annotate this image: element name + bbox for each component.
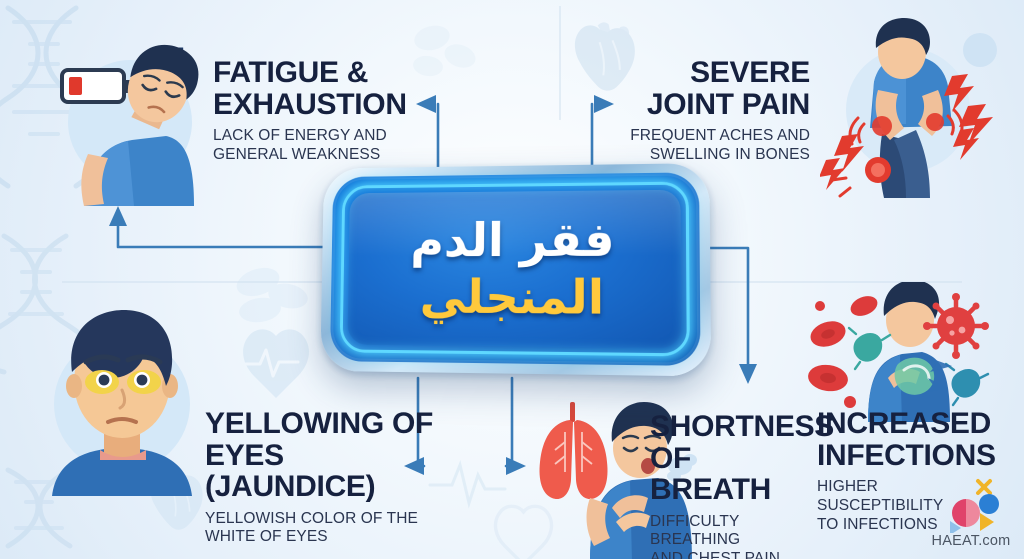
plaque-neon-border — [340, 182, 690, 357]
tired-man-low-battery-icon: Z z z — [44, 26, 224, 211]
symptom-shortness-of-breath: SHORTNESS OF BREATH DIFFICULTY BREATHING… — [650, 411, 810, 559]
watermark-text: HAEAT.com — [928, 533, 1014, 549]
symptom-title: INCREASED INFECTIONS — [817, 408, 1007, 471]
symptom-subtitle: LACK OF ENERGY AND GENERAL WEAKNESS — [213, 127, 423, 165]
symptom-subtitle: DIFFICULTY BREATHING AND CHEST PAIN — [650, 513, 810, 559]
title-plaque: فقر الدم المنجلي — [320, 163, 711, 376]
symptom-joint-pain: SEVERE JOINT PAIN FREQUENT ACHES AND SWE… — [600, 57, 810, 165]
symptom-title: FATIGUE & EXHAUSTION — [213, 57, 423, 120]
infographic-canvas: Z z z — [0, 0, 1024, 559]
symptom-title: YELLOWING OF EYES (JAUNDICE) — [205, 408, 505, 503]
face-yellow-eyes-icon — [26, 286, 226, 501]
brand-logo-icon — [928, 477, 1014, 533]
symptom-title: SHORTNESS OF BREATH — [650, 411, 810, 506]
symptom-title: SEVERE JOINT PAIN — [600, 57, 810, 120]
virus-bacteria-man-icon — [806, 282, 991, 427]
man-holding-knee-pain-icon — [820, 18, 1010, 203]
symptom-subtitle: FREQUENT ACHES AND SWELLING IN BONES — [600, 127, 810, 165]
symptom-fatigue: FATIGUE & EXHAUSTION LACK OF ENERGY AND … — [213, 57, 423, 165]
symptom-jaundice: YELLOWING OF EYES (JAUNDICE) YELLOWISH C… — [205, 408, 505, 547]
site-watermark[interactable]: HAEAT.com — [928, 477, 1014, 549]
symptom-subtitle: YELLOWISH COLOR OF THE WHITE OF EYES — [205, 510, 505, 548]
